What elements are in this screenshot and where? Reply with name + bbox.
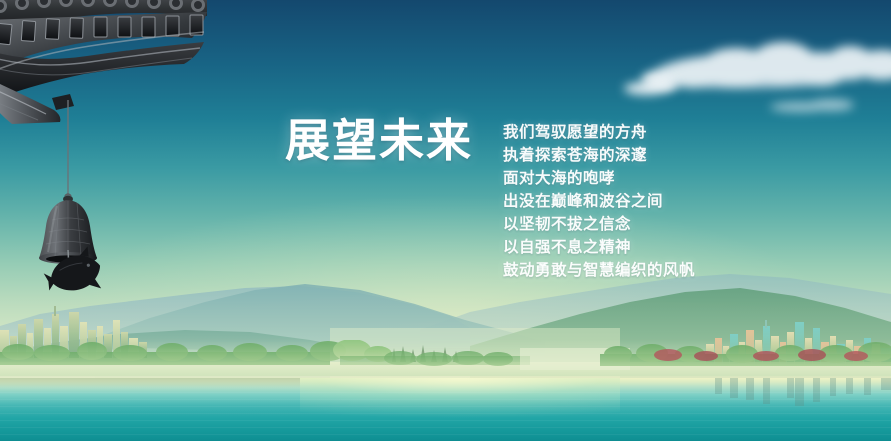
shoreline-vegetation	[0, 340, 891, 380]
page-title: 展望未来	[285, 118, 473, 163]
poem-line: 我们驾驭愿望的方舟	[503, 121, 708, 144]
poem-line: 执着探索苍海的深邃	[503, 144, 708, 167]
poster-banner: 展望未来 我们驾驭愿望的方舟 执着探索苍海的深邃 面对大海的咆哮 出没在巅峰和波…	[0, 0, 891, 441]
left-shore-reflection	[0, 378, 300, 388]
poem-block: 我们驾驭愿望的方舟 执着探索苍海的深邃 面对大海的咆哮 出没在巅峰和波谷之间 以…	[503, 121, 708, 282]
water-ripples	[0, 392, 891, 441]
poem-line: 以坚韧不拔之信念	[503, 213, 708, 236]
wind-bell-icon	[22, 100, 117, 305]
poem-line: 出没在巅峰和波谷之间	[503, 190, 708, 213]
poem-line: 以自强不息之精神	[503, 236, 708, 259]
white-cloud-small	[624, 76, 694, 96]
poem-line: 面对大海的咆哮	[503, 167, 708, 190]
poem-line: 鼓动勇敢与智慧编织的风帆	[503, 259, 708, 282]
white-cloud-wisp	[770, 98, 860, 114]
